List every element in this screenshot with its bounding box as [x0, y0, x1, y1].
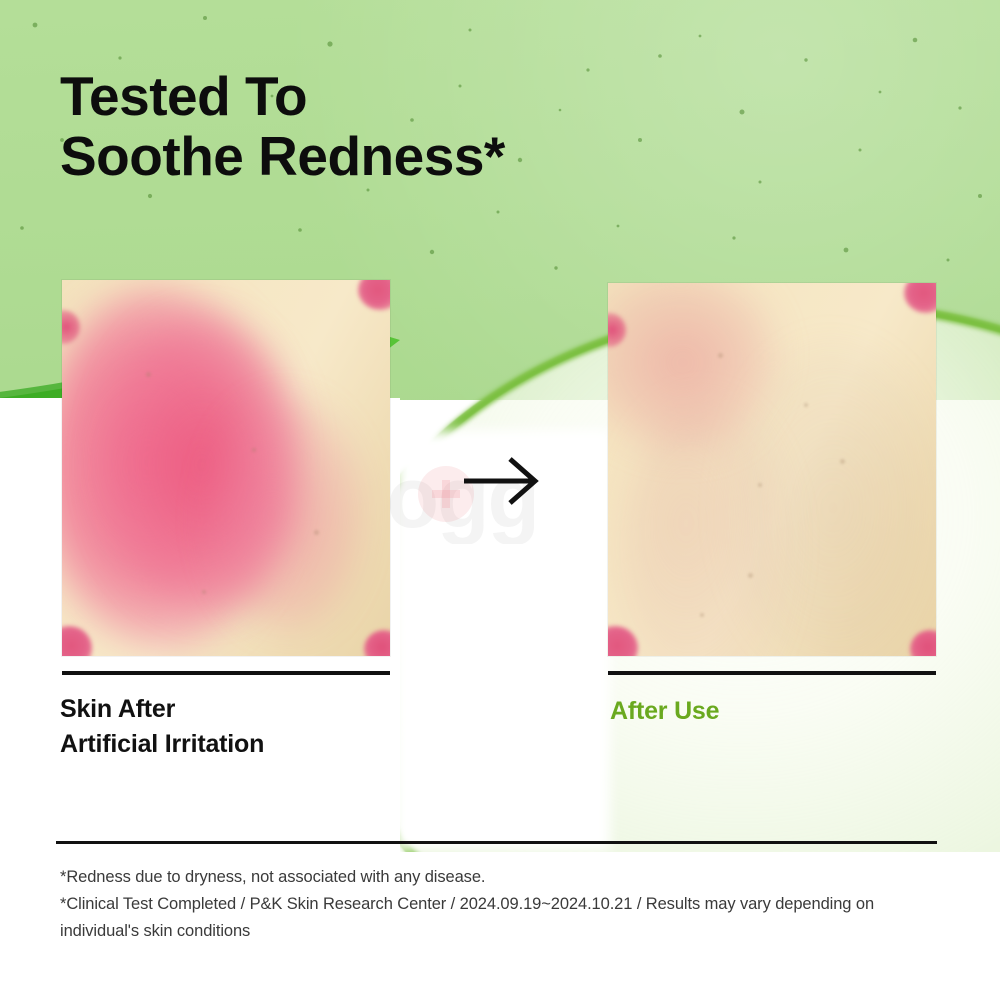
skin-pore: [804, 403, 808, 407]
before-divider: [62, 671, 390, 675]
after-photo: [608, 283, 936, 656]
page-title: Tested To Soothe Redness*: [60, 66, 505, 186]
footnotes: *Redness due to dryness, not associated …: [60, 864, 940, 945]
before-photo: [62, 280, 390, 656]
arrow-right-icon: [462, 455, 542, 507]
skin-pore: [748, 573, 753, 578]
skin-pore: [252, 448, 256, 452]
skin-pore: [758, 483, 762, 487]
before-label: Skin After Artificial Irritation: [60, 692, 264, 762]
redness-patch: [212, 400, 362, 630]
skin-pore: [840, 459, 845, 464]
footnote-divider: [56, 841, 937, 844]
skin-pore: [314, 530, 319, 535]
promo-graphic: Tested To Soothe Redness* rogg: [0, 0, 1000, 1000]
footnote-line-2: *Clinical Test Completed / P&K Skin Rese…: [60, 891, 940, 945]
footnote-line-1: *Redness due to dryness, not associated …: [60, 864, 940, 891]
after-divider: [608, 671, 936, 675]
skin-pore: [700, 613, 704, 617]
after-label: After Use: [610, 694, 719, 729]
skin-pore: [718, 353, 723, 358]
skin-pore: [146, 372, 151, 377]
skin-pore: [202, 590, 206, 594]
